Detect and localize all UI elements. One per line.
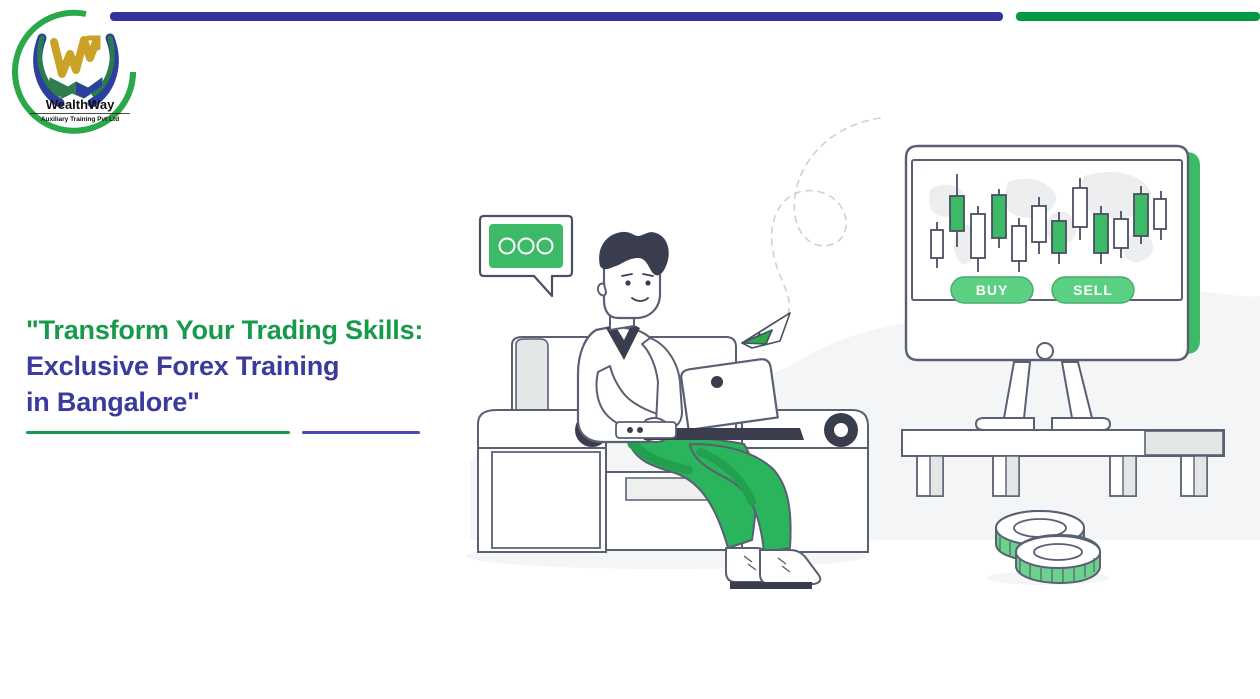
power-indicator[interactable] <box>1037 343 1053 359</box>
headline: "Transform Your Trading Skills: Exclusiv… <box>26 312 486 420</box>
eye-left <box>625 280 630 285</box>
top-rule-blue <box>110 12 1003 21</box>
sell-button-label: SELL <box>1073 282 1113 298</box>
buy-button[interactable]: BUY <box>951 277 1033 303</box>
logo-tagline: Auxiliary Training Pvt Ltd <box>41 116 119 123</box>
sell-button[interactable]: SELL <box>1052 277 1134 303</box>
candle-11 <box>1134 186 1148 244</box>
laptop-logo <box>711 376 723 388</box>
paper-plane <box>742 313 790 348</box>
monogram-w <box>54 38 98 74</box>
headline-underline-green <box>26 431 290 434</box>
typing-indicator-bubble <box>480 216 572 296</box>
top-rule-green <box>1016 12 1260 21</box>
headline-line-3: in Bangalore" <box>26 384 486 420</box>
hero-illustration: BUY SELL <box>440 100 1260 620</box>
illustration-svg: BUY SELL <box>440 100 1260 620</box>
eye-right <box>645 280 650 285</box>
buy-button-label: BUY <box>976 282 1009 298</box>
logo-brand-name: WealthWay <box>46 97 115 112</box>
marketing-banner: WealthWay Auxiliary Training Pvt Ltd "Tr… <box>0 0 1260 699</box>
headline-underline-blue <box>302 431 420 434</box>
logo-mark: WealthWay Auxiliary Training Pvt Ltd <box>6 8 154 136</box>
headline-line-2: Exclusive Forex Training <box>26 348 486 384</box>
brand-logo[interactable]: WealthWay Auxiliary Training Pvt Ltd <box>6 8 154 136</box>
flight-path <box>772 118 880 320</box>
headline-line-1: "Transform Your Trading Skills: <box>26 312 486 348</box>
headline-underlines <box>26 431 426 435</box>
